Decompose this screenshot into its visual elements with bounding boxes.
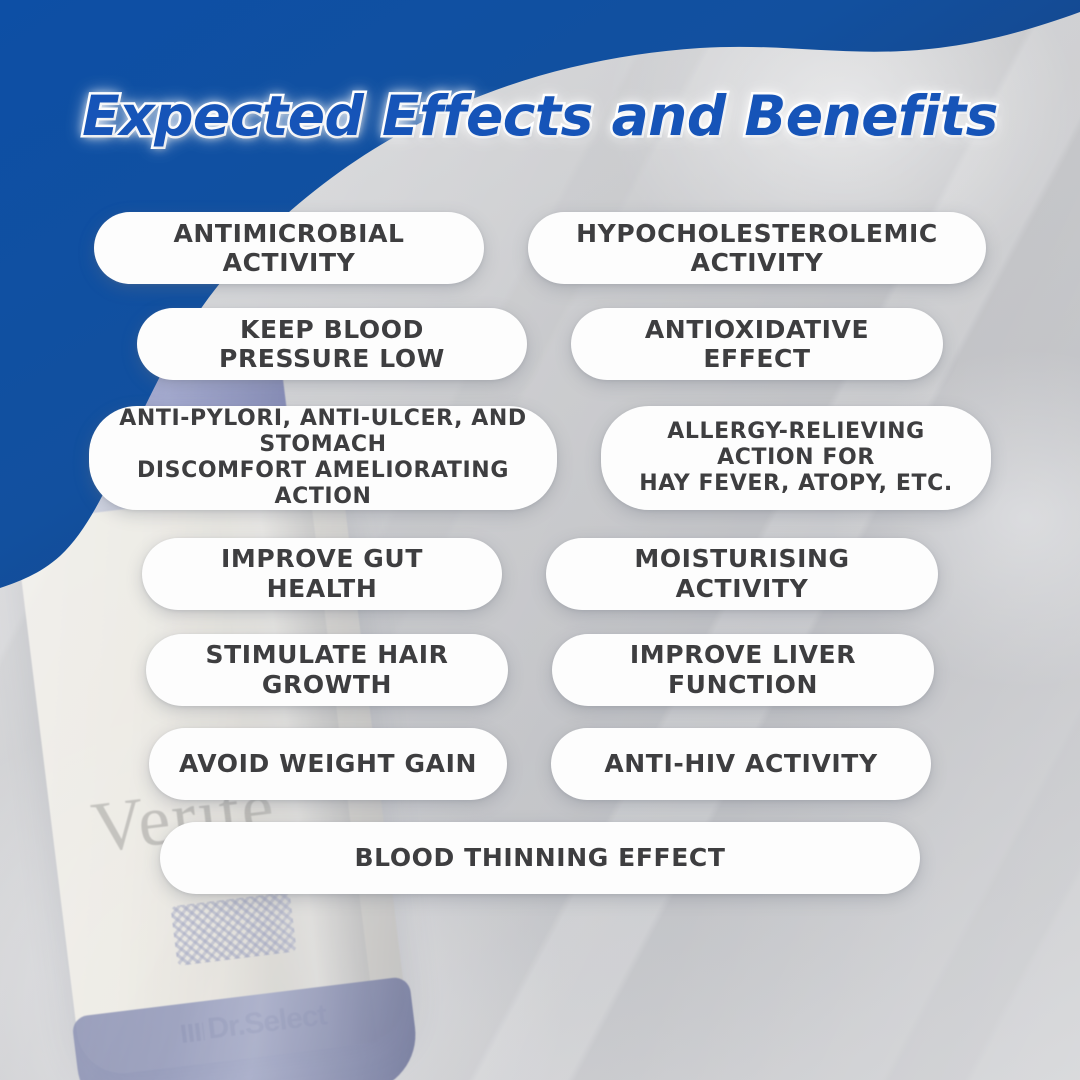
benefit-label: ANTIOXIDATIVE EFFECT (597, 315, 917, 374)
benefits-row: ANTI-PYLORI, ANTI-ULCER, AND STOMACH DIS… (0, 406, 1080, 510)
page-title: Expected Effects and Benefits (0, 84, 1080, 148)
benefit-pill-antimicrobial-activity[interactable]: ANTIMICROBIAL ACTIVITY (94, 212, 484, 284)
benefit-pill-anti-hiv-activity[interactable]: ANTI-HIV ACTIVITY (551, 728, 931, 800)
benefits-row: IMPROVE GUT HEALTH MOISTURISING ACTIVITY (0, 538, 1080, 610)
benefits-row: KEEP BLOOD PRESSURE LOW ANTIOXIDATIVE EF… (0, 308, 1080, 380)
benefit-label: STIMULATE HAIR GROWTH (172, 640, 482, 699)
benefit-label: ANTI-HIV ACTIVITY (604, 749, 877, 779)
benefit-pill-improve-gut-health[interactable]: IMPROVE GUT HEALTH (142, 538, 502, 610)
benefits-row: BLOOD THINNING EFFECT (0, 822, 1080, 894)
benefits-grid: ANTIMICROBIAL ACTIVITY HYPOCHOLESTEROLEM… (0, 212, 1080, 916)
benefit-pill-stimulate-hair-growth[interactable]: STIMULATE HAIR GROWTH (146, 634, 508, 706)
benefit-label: BLOOD THINNING EFFECT (355, 843, 726, 873)
benefit-pill-antioxidative-effect[interactable]: ANTIOXIDATIVE EFFECT (571, 308, 943, 380)
benefit-label: IMPROVE LIVER FUNCTION (578, 640, 908, 699)
benefits-row: AVOID WEIGHT GAIN ANTI-HIV ACTIVITY (0, 728, 1080, 800)
benefit-label: MOISTURISING ACTIVITY (572, 544, 912, 603)
benefit-pill-anti-pylori-anti-ulcer-stomach[interactable]: ANTI-PYLORI, ANTI-ULCER, AND STOMACH DIS… (89, 406, 557, 510)
benefits-row: STIMULATE HAIR GROWTH IMPROVE LIVER FUNC… (0, 634, 1080, 706)
benefit-pill-hypocholesterolemic-activity[interactable]: HYPOCHOLESTEROLEMIC ACTIVITY (528, 212, 986, 284)
benefits-row: ANTIMICROBIAL ACTIVITY HYPOCHOLESTEROLEM… (0, 212, 1080, 284)
benefit-label: IMPROVE GUT HEALTH (168, 544, 476, 603)
benefit-pill-moisturising-activity[interactable]: MOISTURISING ACTIVITY (546, 538, 938, 610)
benefit-label: HYPOCHOLESTEROLEMIC ACTIVITY (554, 219, 960, 278)
benefit-label: ANTIMICROBIAL ACTIVITY (120, 219, 458, 278)
benefits-poster: Verite Dr.Select Expected Effects and Be… (0, 0, 1080, 1080)
benefit-pill-improve-liver-function[interactable]: IMPROVE LIVER FUNCTION (552, 634, 934, 706)
benefit-pill-blood-thinning-effect[interactable]: BLOOD THINNING EFFECT (160, 822, 920, 894)
benefit-label: KEEP BLOOD PRESSURE LOW (163, 315, 501, 374)
benefit-label: AVOID WEIGHT GAIN (179, 749, 477, 779)
benefit-label: ANTI-PYLORI, ANTI-ULCER, AND STOMACH DIS… (115, 406, 531, 510)
benefit-pill-allergy-relieving-action[interactable]: ALLERGY-RELIEVING ACTION FOR HAY FEVER, … (601, 406, 991, 510)
benefit-pill-keep-blood-pressure-low[interactable]: KEEP BLOOD PRESSURE LOW (137, 308, 527, 380)
benefit-pill-avoid-weight-gain[interactable]: AVOID WEIGHT GAIN (149, 728, 507, 800)
benefit-label: ALLERGY-RELIEVING ACTION FOR HAY FEVER, … (627, 419, 965, 497)
